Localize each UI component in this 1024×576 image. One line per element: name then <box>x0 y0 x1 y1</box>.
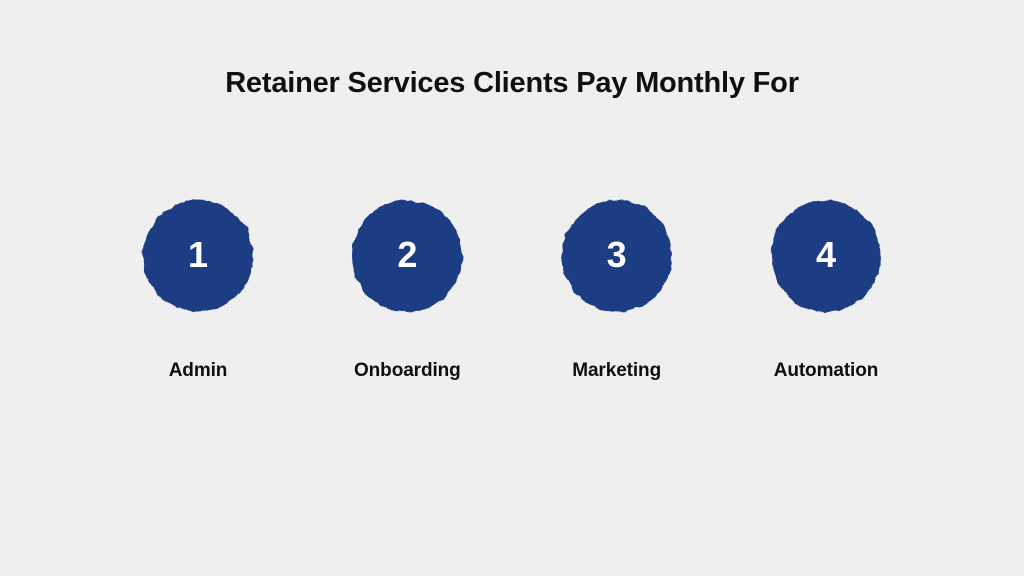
step-label: Admin <box>169 360 228 382</box>
step-number: 2 <box>397 237 417 273</box>
step-item[interactable]: 1 Admin <box>112 196 284 382</box>
step-circle-1[interactable]: 1 <box>139 196 257 316</box>
step-number: 3 <box>607 237 627 273</box>
step-number: 1 <box>188 237 208 273</box>
step-item[interactable]: 4 Automation <box>740 196 912 382</box>
page-title: Retainer Services Clients Pay Monthly Fo… <box>0 66 1024 101</box>
step-label: Marketing <box>572 360 661 382</box>
step-circle-4[interactable]: 4 <box>767 196 885 316</box>
step-label: Onboarding <box>354 360 461 382</box>
step-label: Automation <box>774 360 879 382</box>
step-number: 4 <box>816 237 836 273</box>
step-item[interactable]: 2 Onboarding <box>321 196 493 382</box>
step-item[interactable]: 3 Marketing <box>531 196 703 382</box>
step-circle-3[interactable]: 3 <box>558 196 676 316</box>
steps-row: 1 Admin 2 Onboarding <box>112 196 912 382</box>
infographic-slide: Retainer Services Clients Pay Monthly Fo… <box>0 0 1024 576</box>
step-circle-2[interactable]: 2 <box>348 196 466 316</box>
